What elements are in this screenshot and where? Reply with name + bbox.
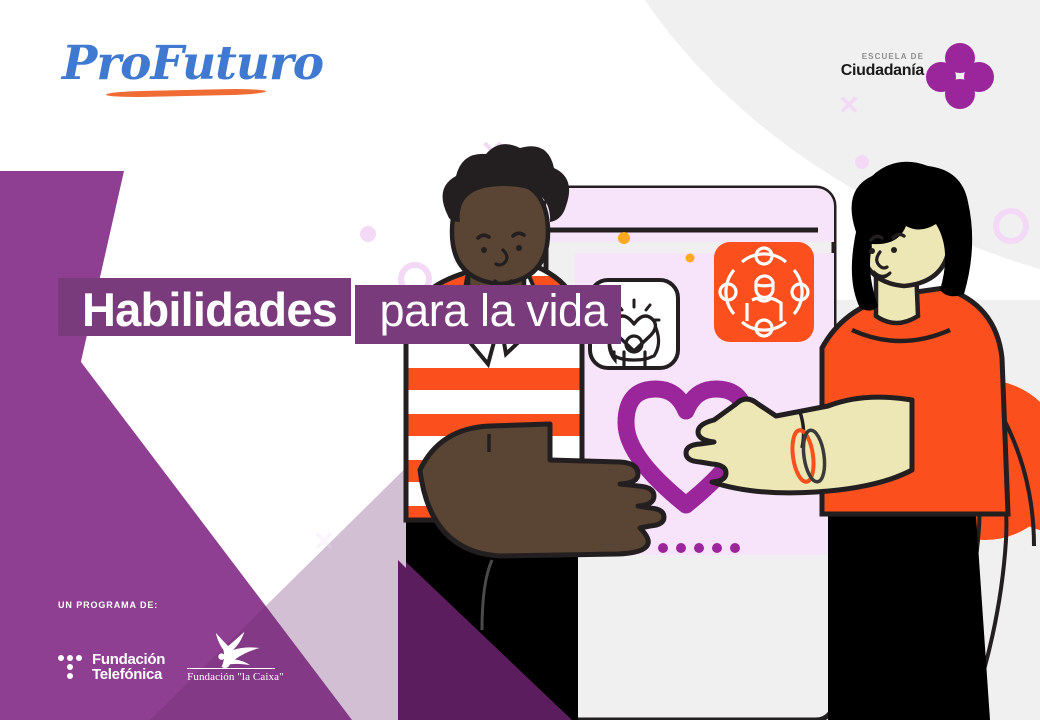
profuturo-logo[interactable]: ProFuturo [62, 40, 292, 102]
escuela-ciudadania-text: ESCUELA DE Ciudadanía [841, 53, 924, 80]
fundacion-la-caixa-logo[interactable]: Fundación "la Caixa" [187, 630, 275, 683]
profuturo-wordmark: ProFuturo [62, 40, 292, 87]
orange-dot-decoration-icon [618, 232, 630, 244]
caixa-divider [187, 668, 275, 669]
escuela-superline: ESCUELA DE [841, 53, 924, 62]
escuela-ciudadania-logo[interactable]: ESCUELA DE Ciudadanía [840, 48, 990, 106]
escuela-name: Ciudadanía [841, 62, 924, 80]
headline-line2: para la vida [379, 287, 607, 334]
caixa-caption: Fundación "la Caixa" [187, 671, 275, 683]
person-network-icon [714, 242, 814, 342]
sponsors-block: UN PROGRAMA DE: Fundación Telefónica [58, 600, 318, 683]
sponsors-row: Fundación Telefónica Fundación "la Caixa… [58, 630, 318, 683]
caixa-star-icon [187, 630, 275, 666]
fundacion-telefonica-name: Fundación Telefónica [92, 652, 165, 683]
four-petal-flower-icon [926, 43, 994, 109]
woman-skirt [828, 516, 990, 720]
poster-canvas: ✕ ✕ ✕ [0, 0, 1040, 720]
telefonica-dots-icon [58, 653, 84, 681]
fundacion-telefonica-logo[interactable]: Fundación Telefónica [58, 652, 165, 683]
orange-dot-decoration-icon [686, 254, 695, 263]
headline-line2-box: para la vida [355, 285, 621, 344]
sponsors-label: UN PROGRAMA DE: [58, 600, 318, 610]
headline-line1: Habilidades [82, 286, 337, 334]
page-title: Habilidades para la vida [58, 278, 621, 344]
headline-line1-box: Habilidades [58, 278, 351, 336]
